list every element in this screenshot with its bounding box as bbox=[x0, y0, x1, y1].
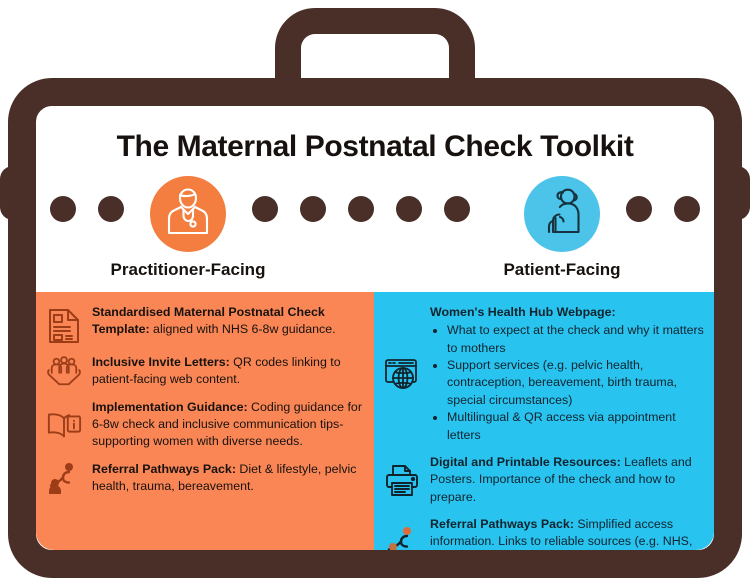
decorative-dot bbox=[348, 196, 374, 222]
list-item: Inclusive Invite Letters: QR codes linki… bbox=[44, 354, 364, 389]
list-item-bold: Referral Pathways Pack: bbox=[92, 462, 236, 476]
list-item-bold: Digital and Printable Resources: bbox=[430, 455, 621, 469]
bullet-item: Multilingual & QR access via appointment… bbox=[447, 409, 704, 444]
list-item-text: Women's Health Hub Webpage: What to expe… bbox=[430, 304, 704, 444]
list-item: Standardised Maternal Postnatal Check Te… bbox=[44, 304, 364, 344]
list-item-text: Implementation Guidance: Coding guidance… bbox=[92, 399, 364, 451]
list-item-bold: Implementation Guidance: bbox=[92, 400, 248, 414]
decorative-dot bbox=[252, 196, 278, 222]
panels: Standardised Maternal Postnatal Check Te… bbox=[36, 292, 714, 550]
female-doctor-icon bbox=[163, 186, 213, 243]
bullet-item: What to expect at the check and why it m… bbox=[447, 322, 704, 357]
list-item: Referral Pathways Pack: Simplified acces… bbox=[382, 516, 704, 550]
decorative-dot bbox=[626, 196, 652, 222]
decorative-dot bbox=[396, 196, 422, 222]
list-item-bold: Women's Health Hub Webpage: bbox=[430, 305, 616, 319]
referral-handoff-icon bbox=[44, 461, 84, 495]
browser-globe-icon bbox=[382, 357, 422, 391]
document-template-icon bbox=[44, 304, 84, 344]
bullet-item: Support services (e.g. pelvic health, co… bbox=[447, 357, 704, 409]
patient-facing-label: Patient-Facing bbox=[452, 260, 672, 280]
list-item-text: Referral Pathways Pack: Diet & lifestyle… bbox=[92, 461, 364, 496]
list-item-text: Inclusive Invite Letters: QR codes linki… bbox=[92, 354, 364, 389]
practitioner-badge bbox=[150, 176, 226, 252]
decorative-dot bbox=[674, 196, 700, 222]
list-item: Implementation Guidance: Coding guidance… bbox=[44, 399, 364, 451]
practitioner-facing-label: Practitioner-Facing bbox=[78, 260, 298, 280]
list-item: Women's Health Hub Webpage: What to expe… bbox=[382, 304, 704, 444]
list-item-bold: Referral Pathways Pack: bbox=[430, 517, 574, 531]
open-book-info-icon bbox=[44, 410, 84, 440]
bullet-list: What to expect at the check and why it m… bbox=[430, 322, 704, 444]
decorative-dot bbox=[98, 196, 124, 222]
patient-badge bbox=[524, 176, 600, 252]
printer-icon bbox=[382, 463, 422, 497]
practitioner-panel: Standardised Maternal Postnatal Check Te… bbox=[36, 292, 374, 550]
list-item-text: Digital and Printable Resources: Leaflet… bbox=[430, 454, 704, 506]
people-in-hands-icon bbox=[44, 355, 84, 387]
list-item-text: Standardised Maternal Postnatal Check Te… bbox=[92, 304, 364, 339]
dot-strip bbox=[36, 192, 714, 226]
page-title: The Maternal Postnatal Check Toolkit bbox=[36, 130, 714, 164]
referral-handoff-icon bbox=[382, 525, 422, 550]
patient-panel: Women's Health Hub Webpage: What to expe… bbox=[374, 292, 714, 550]
list-item-bold: Inclusive Invite Letters: bbox=[92, 355, 230, 369]
toolbox-content: The Maternal Postnatal Check Toolkit bbox=[36, 106, 714, 550]
decorative-dot bbox=[300, 196, 326, 222]
decorative-dot bbox=[444, 196, 470, 222]
list-item-rest: aligned with NHS 6-8w guidance. bbox=[150, 322, 336, 336]
toolkit-infographic: The Maternal Postnatal Check Toolkit bbox=[0, 0, 750, 583]
list-item: Referral Pathways Pack: Diet & lifestyle… bbox=[44, 461, 364, 496]
list-item-text: Referral Pathways Pack: Simplified acces… bbox=[430, 516, 704, 550]
list-item: Digital and Printable Resources: Leaflet… bbox=[382, 454, 704, 506]
mother-and-baby-icon bbox=[537, 186, 587, 243]
decorative-dot bbox=[50, 196, 76, 222]
